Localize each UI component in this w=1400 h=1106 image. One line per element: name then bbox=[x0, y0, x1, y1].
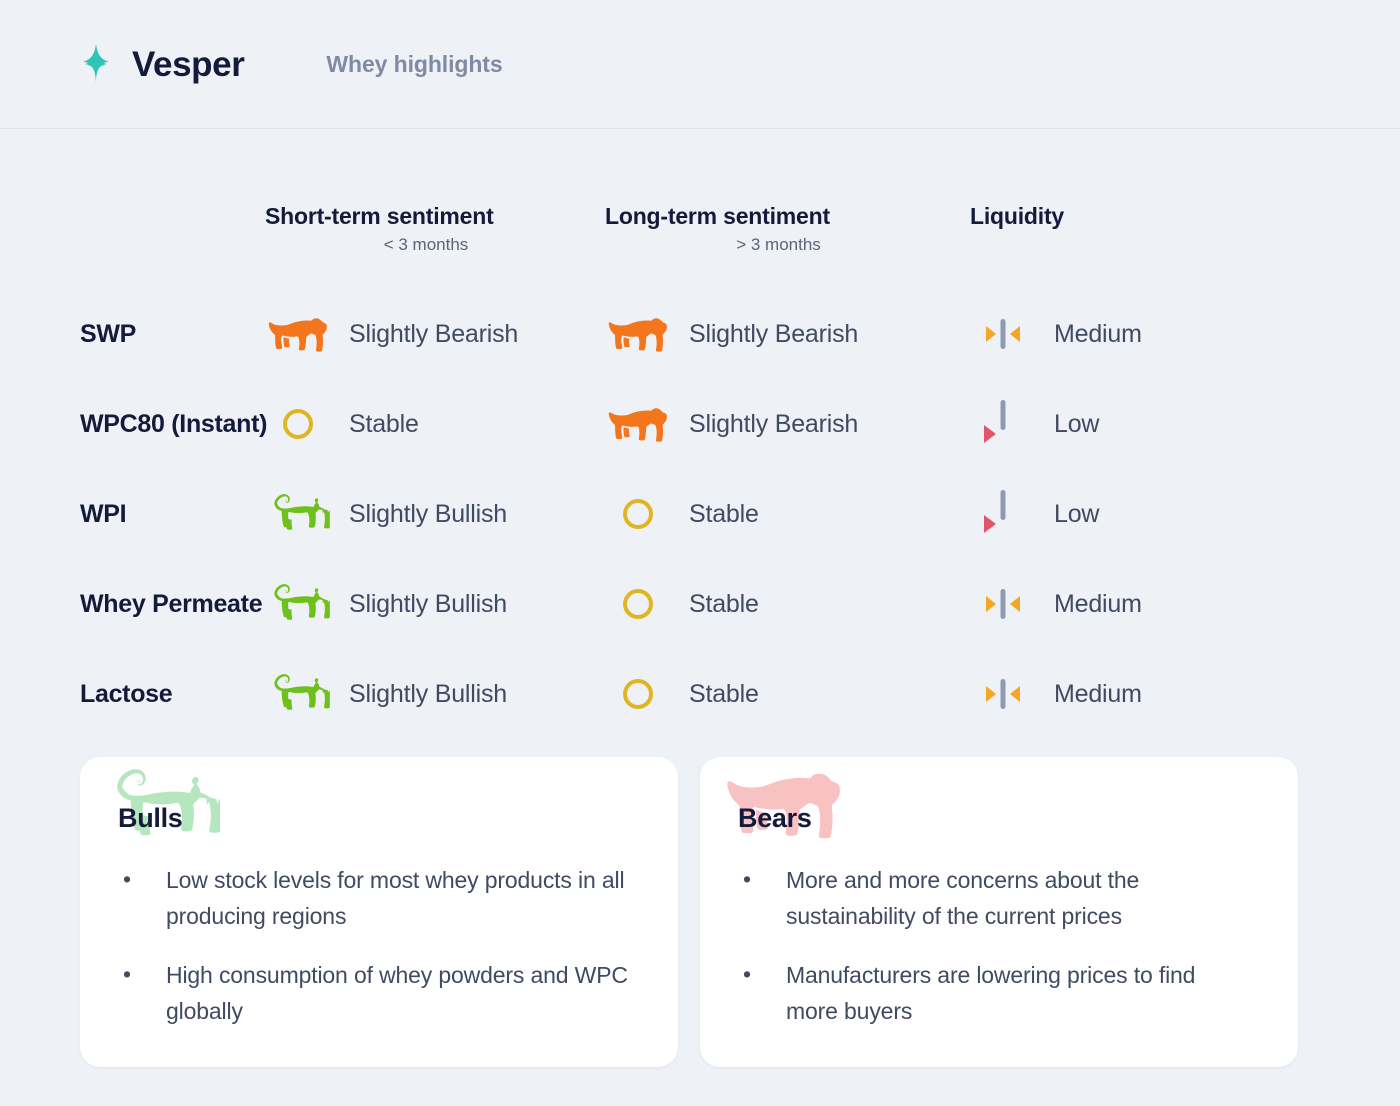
table-row: SWP Slightly Bearish Slightly Bearish bbox=[0, 289, 1400, 379]
liquidity-label: Low bbox=[1054, 500, 1099, 529]
brand-name: Vesper bbox=[132, 47, 244, 82]
column-header-title: Short-term sentiment bbox=[265, 203, 494, 229]
page-header: Vesper Whey highlights bbox=[0, 0, 1400, 129]
column-header-subtitle: < 3 months bbox=[384, 235, 487, 255]
column-header-title: Liquidity bbox=[970, 203, 1064, 229]
sentiment-label: Stable bbox=[689, 590, 759, 619]
liquidity-low-icon bbox=[970, 488, 1036, 540]
bull-icon bbox=[265, 493, 331, 535]
bears-bullet-list: More and more concerns about the sustain… bbox=[700, 862, 1298, 1029]
sentiment-label: Slightly Bullish bbox=[349, 500, 507, 529]
cell-liquidity: Low bbox=[970, 488, 1400, 540]
sentiment-label: Slightly Bullish bbox=[349, 590, 507, 619]
bears-card: Bears More and more concerns about the s… bbox=[700, 757, 1298, 1067]
table-row: WPC80 (Instant) Stable Slightly Bearish bbox=[0, 379, 1400, 469]
sentiment-table: Short-term sentiment < 3 months Long-ter… bbox=[0, 129, 1400, 739]
row-product: WPI bbox=[0, 500, 265, 529]
table-header-row: Short-term sentiment < 3 months Long-ter… bbox=[0, 129, 1400, 289]
sentiment-label: Slightly Bullish bbox=[349, 680, 507, 709]
cell-long-term: Stable bbox=[605, 589, 970, 619]
circle-ring-icon bbox=[605, 589, 671, 619]
table-row: Whey Permeate Slightly Bullish Stable bbox=[0, 559, 1400, 649]
circle-ring-icon bbox=[605, 679, 671, 709]
bear-icon bbox=[605, 315, 671, 353]
list-item: High consumption of whey powders and WPC… bbox=[120, 957, 632, 1030]
column-header-short-term: Short-term sentiment < 3 months bbox=[265, 203, 605, 255]
bull-icon bbox=[265, 673, 331, 715]
card-title: Bulls bbox=[118, 803, 183, 834]
bull-icon bbox=[265, 583, 331, 625]
list-item: More and more concerns about the sustain… bbox=[740, 862, 1252, 935]
sentiment-label: Stable bbox=[689, 680, 759, 709]
sentiment-label: Slightly Bearish bbox=[689, 320, 858, 349]
table-row: Lactose Slightly Bullish Stable bbox=[0, 649, 1400, 739]
list-item: Low stock levels for most whey products … bbox=[120, 862, 632, 935]
brand: Vesper bbox=[74, 42, 244, 86]
column-header-title: Long-term sentiment bbox=[605, 203, 830, 229]
circle-ring-icon bbox=[605, 499, 671, 529]
column-header-liquidity: Liquidity bbox=[970, 203, 1400, 229]
cell-short-term: Slightly Bearish bbox=[265, 315, 605, 353]
cell-liquidity: Medium bbox=[970, 674, 1400, 714]
list-item: Manufacturers are lowering prices to fin… bbox=[740, 957, 1252, 1030]
circle-ring-icon bbox=[265, 409, 331, 439]
cell-long-term: Slightly Bearish bbox=[605, 405, 970, 443]
product-label: WPC80 (Instant) bbox=[80, 410, 267, 438]
summary-cards: Bulls Low stock levels for most whey pro… bbox=[80, 757, 1298, 1067]
bulls-bullet-list: Low stock levels for most whey products … bbox=[80, 862, 678, 1029]
sentiment-label: Slightly Bearish bbox=[349, 320, 518, 349]
cell-liquidity: Medium bbox=[970, 314, 1400, 354]
liquidity-medium-icon bbox=[970, 314, 1036, 354]
cell-short-term: Slightly Bullish bbox=[265, 583, 605, 625]
column-header-subtitle: > 3 months bbox=[736, 235, 839, 255]
bulls-card: Bulls Low stock levels for most whey pro… bbox=[80, 757, 678, 1067]
cell-short-term: Slightly Bullish bbox=[265, 493, 605, 535]
liquidity-label: Medium bbox=[1054, 680, 1142, 709]
sentiment-label: Slightly Bearish bbox=[689, 410, 858, 439]
liquidity-label: Medium bbox=[1054, 320, 1142, 349]
sparkle-star-icon bbox=[74, 42, 118, 86]
product-label: SWP bbox=[80, 320, 136, 348]
cell-liquidity: Low bbox=[970, 398, 1400, 450]
liquidity-medium-icon bbox=[970, 674, 1036, 714]
whey-highlights-page: Vesper Whey highlights Short-term sentim… bbox=[0, 0, 1400, 1106]
sentiment-label: Stable bbox=[689, 500, 759, 529]
liquidity-label: Low bbox=[1054, 410, 1099, 439]
liquidity-medium-icon bbox=[970, 584, 1036, 624]
cell-long-term: Stable bbox=[605, 499, 970, 529]
column-header-long-term: Long-term sentiment > 3 months bbox=[605, 203, 970, 255]
product-label: Lactose bbox=[80, 680, 172, 708]
cell-long-term: Slightly Bearish bbox=[605, 315, 970, 353]
product-label: WPI bbox=[80, 500, 126, 528]
bulls-card-header: Bulls bbox=[80, 757, 678, 862]
row-product: WPC80 (Instant) bbox=[0, 410, 265, 439]
bear-icon bbox=[605, 405, 671, 443]
cell-short-term: Stable bbox=[265, 409, 605, 439]
liquidity-label: Medium bbox=[1054, 590, 1142, 619]
row-product: SWP bbox=[0, 320, 265, 349]
row-product: Lactose bbox=[0, 680, 265, 709]
table-row: WPI Slightly Bullish Stable bbox=[0, 469, 1400, 559]
page-title: Whey highlights bbox=[326, 51, 502, 78]
bears-card-header: Bears bbox=[700, 757, 1298, 862]
liquidity-low-icon bbox=[970, 398, 1036, 450]
cell-long-term: Stable bbox=[605, 679, 970, 709]
sentiment-label: Stable bbox=[349, 410, 419, 439]
row-product: Whey Permeate bbox=[0, 590, 265, 619]
cell-short-term: Slightly Bullish bbox=[265, 673, 605, 715]
cell-liquidity: Medium bbox=[970, 584, 1400, 624]
card-title: Bears bbox=[738, 803, 812, 834]
product-label: Whey Permeate bbox=[80, 590, 262, 618]
bear-icon bbox=[265, 315, 331, 353]
